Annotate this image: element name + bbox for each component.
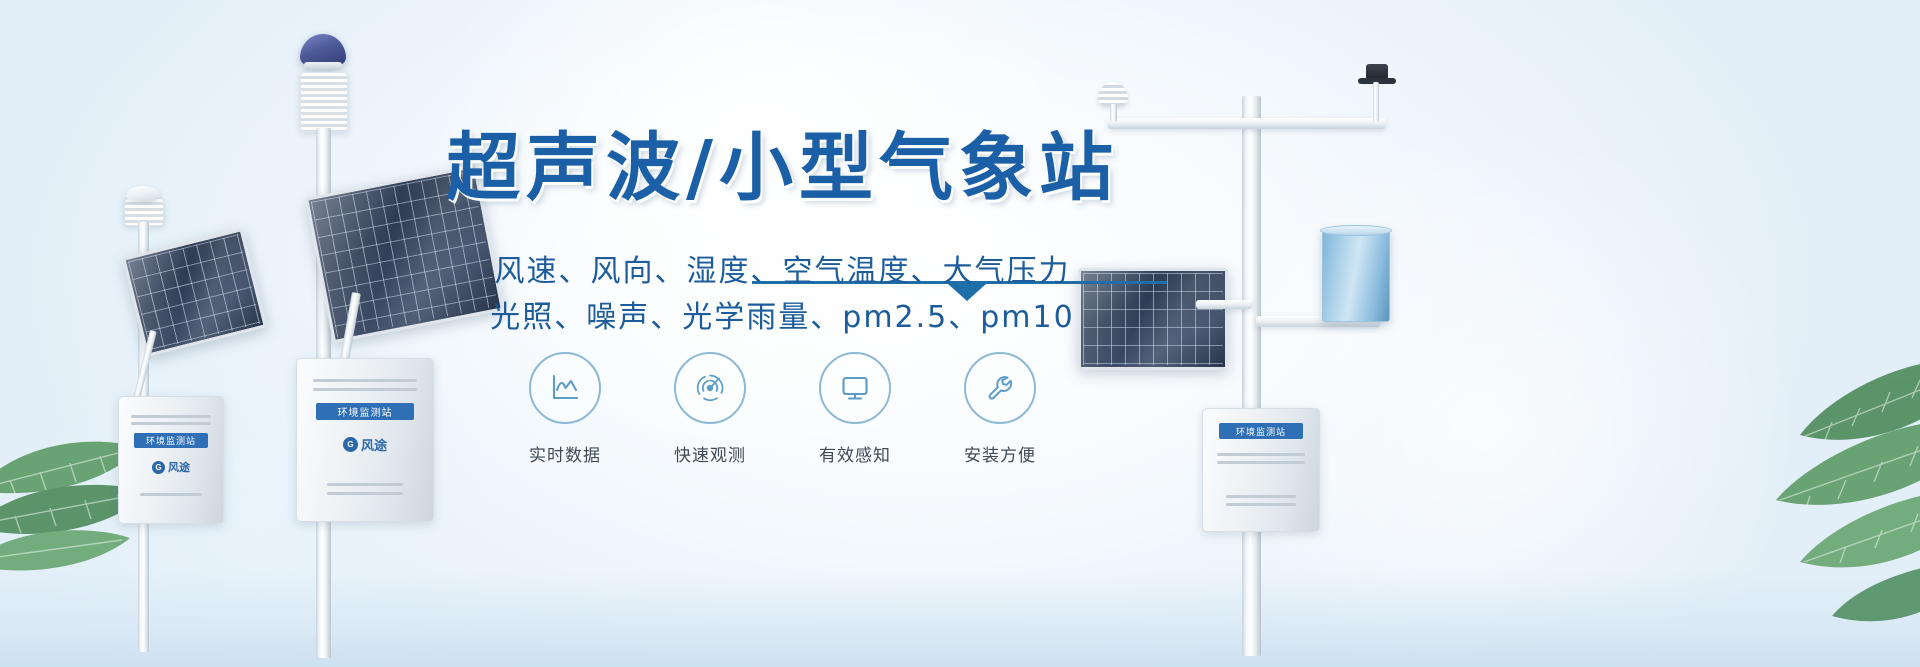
banner-content: 超声波/小型气象站 风速、风向、湿度、空气温度、大气压力 光照、噪声、光学雨量、… — [0, 0, 1920, 667]
banner-title: 超声波/小型气象站 — [0, 128, 1565, 209]
feature-label: 快速观测 — [674, 441, 746, 466]
feature-label: 实时数据 — [529, 441, 601, 466]
banner-subtitle-line-1: 风速、风向、湿度、空气温度、大气压力 — [0, 246, 1565, 290]
banner-subtitle-line-2: 光照、噪声、光学雨量、pm2.5、pm10 — [0, 292, 1565, 336]
feature-item-easy-installation[interactable]: 安装方便 — [940, 352, 1060, 466]
feature-label: 安装方便 — [964, 441, 1036, 466]
feature-item-effective-sensing[interactable]: 有效感知 — [795, 352, 915, 466]
feature-item-fast-observation[interactable]: 快速观测 — [650, 352, 770, 466]
radar-observation-icon — [692, 370, 728, 406]
feature-label: 有效感知 — [819, 441, 891, 466]
feature-icon-circle — [529, 352, 601, 424]
monitor-display-icon — [837, 370, 873, 406]
wrench-icon — [982, 370, 1018, 406]
product-banner: 环境监测站 G 风途 环境监测站 G 风途 环 — [0, 0, 1920, 667]
line-chart-icon — [547, 370, 583, 406]
feature-list: 实时数据 快速观测 — [505, 352, 1060, 466]
feature-icon-circle — [964, 352, 1036, 424]
feature-item-realtime-data[interactable]: 实时数据 — [505, 352, 625, 466]
feature-icon-circle — [819, 352, 891, 424]
feature-icon-circle — [674, 352, 746, 424]
